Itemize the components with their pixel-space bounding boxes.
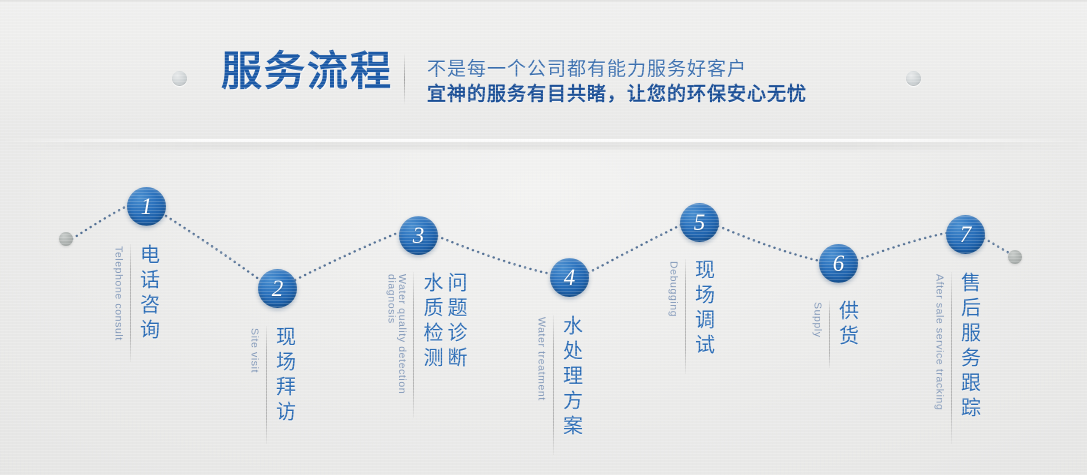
- service-process-banner: 服务流程 不是每一个公司都有能力服务好客户 宜神的服务有目共睹，让您的环保安心无…: [0, 0, 1087, 475]
- subtitle-line-1: 不是每一个公司都有能力服务好客户: [427, 58, 807, 82]
- step-label-cn-group-4: 水处理方案: [560, 315, 581, 440]
- step-badge-5: 5: [680, 203, 719, 242]
- step-labels-2: Site visit 现场拜访: [249, 326, 294, 444]
- step-badge-7: 7: [946, 215, 985, 254]
- step-label-divider-5: [685, 259, 686, 374]
- step-label-en-1: Telephone consult: [113, 244, 124, 341]
- subtitle-block: 不是每一个公司都有能力服务好客户 宜神的服务有目共睹，让您的环保安心无忧: [427, 58, 807, 108]
- step-label-cn-3-secondary: 水质检测: [420, 272, 441, 372]
- step-label-cn-4: 水处理方案: [560, 315, 581, 440]
- flow-end-dot-icon: [1008, 250, 1022, 264]
- step-label-divider-6: [829, 300, 830, 368]
- step-label-divider-4: [553, 315, 554, 455]
- step-label-cn-group-1: 电话咨询: [137, 244, 158, 344]
- step-labels-7: After sale service tracking 售后服务跟踪: [934, 272, 979, 444]
- step-badge-1: 1: [127, 187, 166, 226]
- flow-start-dot-icon: [59, 232, 73, 246]
- step-label-cn-6: 供货: [836, 300, 857, 350]
- step-labels-4: Water treatment 水处理方案: [536, 315, 581, 455]
- screw-dot-right-icon: [906, 71, 921, 86]
- step-labels-6: Supply 供货: [812, 300, 857, 368]
- step-labels-3: Water quality detection diagnosis 问题诊断 水…: [386, 272, 465, 418]
- step-label-cn-2: 现场拜访: [273, 326, 294, 426]
- step-badge-2: 2: [258, 269, 297, 308]
- step-badge-6: 6: [819, 244, 858, 283]
- step-label-cn-group-6: 供货: [836, 300, 857, 350]
- step-label-en-4: Water treatment: [536, 315, 547, 401]
- step-label-en-3: Water quality detection diagnosis: [386, 272, 407, 394]
- process-flow: 1 Telephone consult 电话咨询 2 Site visit 现场…: [0, 140, 1087, 475]
- title-divider: [404, 53, 405, 105]
- step-label-divider-7: [951, 272, 952, 444]
- step-label-cn-group-7: 售后服务跟踪: [958, 272, 979, 422]
- step-label-en-5: Debugging: [668, 259, 679, 317]
- step-labels-5: Debugging 现场调试: [668, 259, 713, 374]
- screw-dot-left-icon: [172, 71, 187, 86]
- step-badge-4: 4: [550, 258, 589, 297]
- step-label-cn-7: 售后服务跟踪: [958, 272, 979, 422]
- page-title: 服务流程: [221, 51, 393, 92]
- step-label-cn-5: 现场调试: [692, 259, 713, 359]
- step-label-cn-group-2: 现场拜访: [273, 326, 294, 426]
- subtitle-line-2: 宜神的服务有目共睹，让您的环保安心无忧: [427, 82, 807, 108]
- step-label-divider-1: [130, 244, 131, 362]
- header-panel: 服务流程 不是每一个公司都有能力服务好客户 宜神的服务有目共睹，让您的环保安心无…: [0, 2, 1087, 141]
- step-labels-1: Telephone consult 电话咨询: [113, 244, 158, 362]
- step-label-en-6: Supply: [812, 300, 823, 338]
- step-label-cn-group-3: 问题诊断 水质检测: [420, 272, 465, 372]
- step-badge-3: 3: [399, 216, 438, 255]
- step-label-cn-group-5: 现场调试: [692, 259, 713, 359]
- step-label-divider-3: [413, 272, 414, 418]
- step-label-en-2: Site visit: [249, 326, 260, 373]
- step-label-divider-2: [266, 326, 267, 444]
- step-label-cn-1: 电话咨询: [137, 244, 158, 344]
- step-label-en-7: After sale service tracking: [934, 272, 945, 410]
- step-label-cn-3: 问题诊断: [444, 272, 465, 372]
